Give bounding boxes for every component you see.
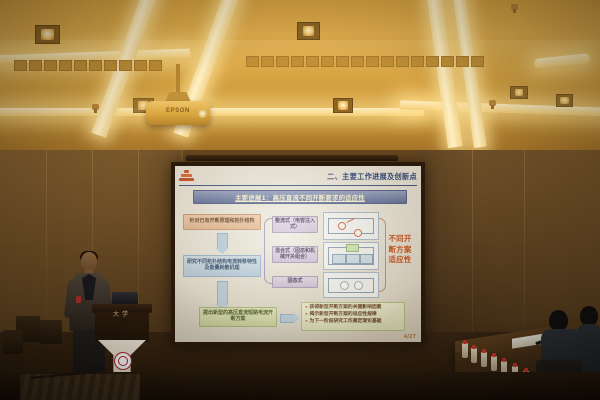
bullet-list: 获得新型开断方案的关键影响因素 揭示新型开断方案的适应性规律 为下一阶段研究工作… (301, 302, 405, 331)
circuit-diagram-3 (323, 272, 379, 298)
arrow-down-2 (217, 281, 228, 305)
speaker-badge (76, 296, 81, 303)
slide-banner-text: 主要进展1：高压直流不同开断要求的适应性 (235, 193, 365, 202)
slide-body: 针对已有开断原理和拓扑结构 研究不同拓扑结构电流转移特性及能量耗散机理 整流式（… (179, 208, 417, 334)
projector-pole (176, 64, 180, 94)
ceiling-spotlight-4 (333, 98, 353, 113)
circuit-diagram-1 (323, 212, 379, 240)
slide-header: 二、主要工作进展及创新点 (179, 169, 417, 186)
arrow-down-1 (217, 233, 228, 249)
slide-section-banner: 主要进展1：高压直流不同开断要求的适应性 (193, 190, 407, 204)
conference-room-photo: EPSON 二、主要工作进展及创新点 主要进展1：高压直流 (0, 0, 600, 400)
middle-box-3: 固态式 (272, 276, 318, 288)
ceiling-spotlight-2 (297, 22, 320, 40)
bullet-item-1: 获得新型开断方案的关键影响因素 (305, 305, 402, 312)
ceiling-spotlight-5 (510, 86, 528, 99)
circuit-diagram-2 (323, 242, 379, 270)
slide-header-title: 二、主要工作进展及创新点 (327, 171, 417, 182)
bullet-item-2: 揭示新型开断方案的适应性规律 (305, 312, 402, 319)
projection-screen: 二、主要工作进展及创新点 主要进展1：高压直流不同开断要求的适应性 针对已有开断… (175, 166, 421, 342)
sprinkler-1 (92, 104, 99, 110)
cove-light-center (0, 108, 424, 116)
left-box-2: 研究不同拓扑结构电流转移特性及能量耗散机理 (183, 255, 261, 277)
middle-box-2: 混合式（固态和机械开关组合） (272, 246, 318, 263)
ceiling-spotlight-1 (35, 25, 60, 44)
ceiling-projector: EPSON (146, 101, 210, 125)
bullet-item-3: 为下一阶段研究工作奠定理论基础 (305, 319, 402, 326)
brace-left (264, 218, 272, 284)
water-bottle (481, 352, 487, 367)
left-box-1: 针对已有开断原理和拓扑结构 (183, 214, 261, 230)
projector-lens-icon (198, 109, 207, 118)
screen-roller (186, 155, 398, 161)
right-conclusion-label: 不同开断方案适应性 (385, 234, 415, 266)
lectern-inscription: 大学 (95, 309, 149, 318)
result-box: 提出新型的高压直流短路电流开断方案 (199, 307, 277, 327)
sprinkler-3 (511, 4, 518, 10)
side-chair-3 (3, 330, 23, 354)
ceiling (0, 0, 600, 152)
institution-logo-icon (179, 170, 194, 183)
water-bottle (462, 343, 468, 358)
water-bottle (491, 356, 497, 371)
projection-screen-frame: 二、主要工作进展及创新点 主要进展1：高压直流不同开断要求的适应性 针对已有开断… (171, 162, 425, 346)
water-bottle (471, 348, 477, 363)
ceiling-spotlight-6 (556, 94, 573, 107)
university-emblem-icon (114, 352, 132, 370)
slide-page-number: 4/27 (404, 334, 416, 340)
side-chair-2 (40, 320, 62, 344)
presentation-slide: 二、主要工作进展及创新点 主要进展1：高压直流不同开断要求的适应性 针对已有开断… (175, 166, 421, 342)
sprinkler-2 (489, 100, 496, 106)
arrow-right-result (280, 314, 294, 323)
middle-box-1: 整流式（电容注入式） (272, 216, 318, 233)
